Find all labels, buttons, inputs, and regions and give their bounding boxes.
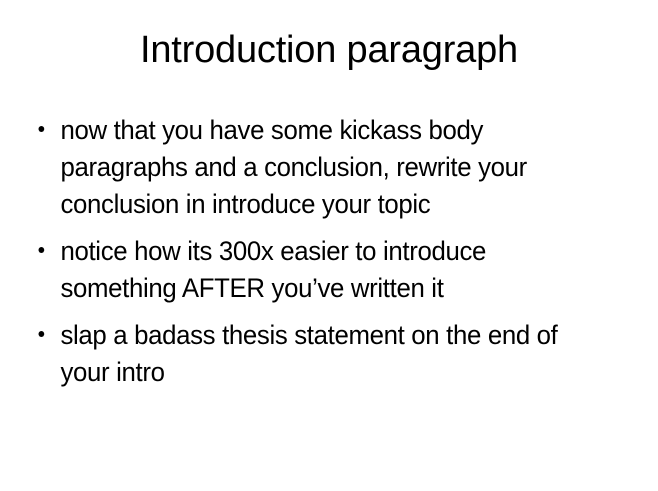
list-item: notice how its 300x easier to introduce … bbox=[28, 233, 601, 307]
bullet-list: now that you have some kickass body para… bbox=[28, 112, 628, 391]
page-title: Introduction paragraph bbox=[0, 28, 658, 72]
list-item-text: slap a badass thesis statement on the en… bbox=[60, 317, 601, 391]
list-item-text: now that you have some kickass body para… bbox=[60, 112, 601, 223]
presentation-slide: Introduction paragraph now that you have… bbox=[0, 0, 658, 491]
list-item: now that you have some kickass body para… bbox=[28, 112, 601, 223]
bullet-dot-icon bbox=[39, 331, 45, 337]
bullet-dot-icon bbox=[39, 126, 45, 132]
list-item-text: notice how its 300x easier to introduce … bbox=[60, 233, 601, 307]
bullet-dot-icon bbox=[39, 247, 45, 253]
list-item: slap a badass thesis statement on the en… bbox=[28, 317, 601, 391]
